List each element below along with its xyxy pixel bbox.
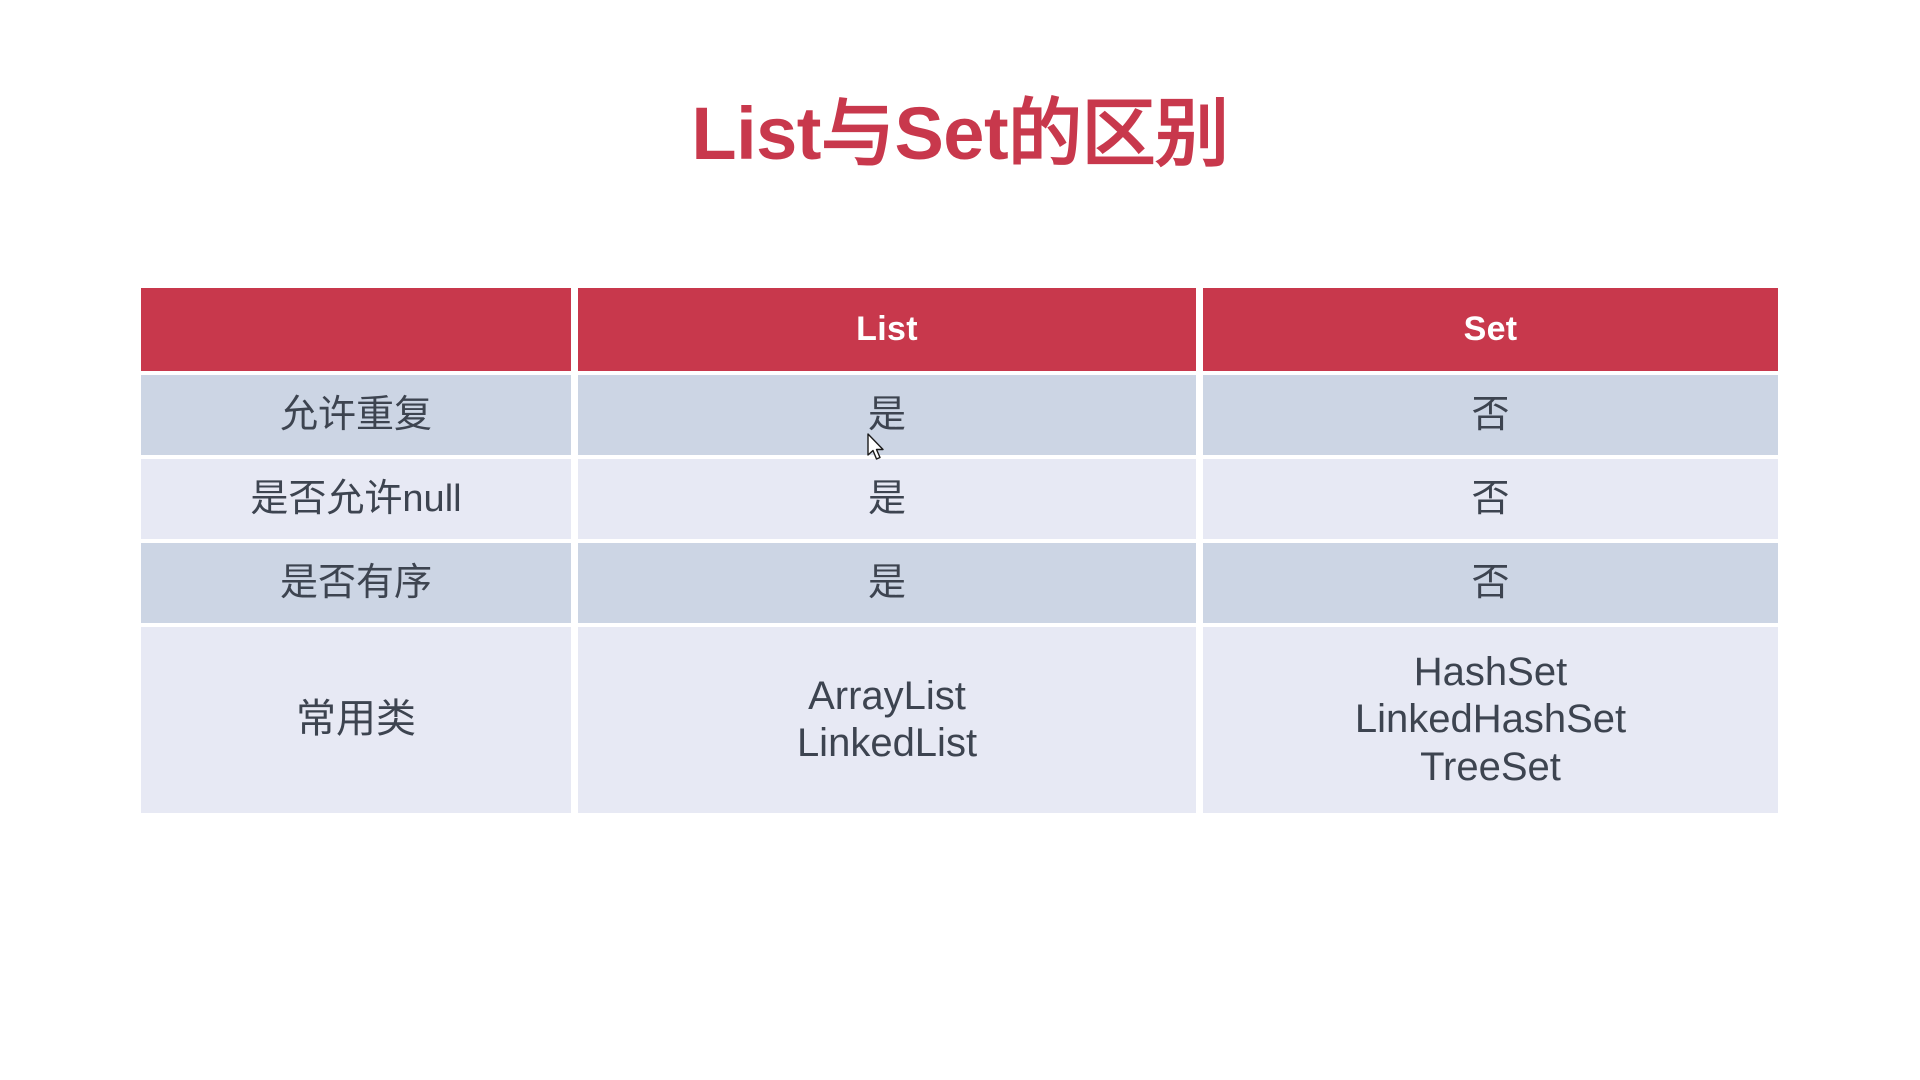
set-value: 否 [1203, 459, 1778, 539]
table-row: 允许重复 是 否 [141, 375, 1778, 455]
comparison-table: List Set 允许重复 是 [134, 284, 1785, 817]
value-line: 是 [868, 391, 906, 440]
table-cell-list: 是 [578, 459, 1196, 539]
page-title: List与Set的区别 [0, 95, 1920, 173]
attribute-label: 是否允许null [141, 459, 571, 539]
table-cell-list: 是 [578, 375, 1196, 455]
table-row: 是否允许null 是 否 [141, 459, 1778, 539]
value-line: 否 [1471, 559, 1509, 608]
list-value: 是 [578, 375, 1196, 455]
table-cell-list: 是 [578, 543, 1196, 623]
table-header-cell-attribute [141, 288, 571, 371]
attribute-label: 允许重复 [141, 375, 571, 455]
table-header-cell-list: List [578, 288, 1196, 371]
table-row: 常用类 ArrayList LinkedList HashSet LinkedH… [141, 627, 1778, 813]
table-header-label-attribute [141, 288, 571, 371]
comparison-table-wrapper: List Set 允许重复 是 [141, 288, 1778, 813]
table-header-row: List Set [141, 288, 1778, 371]
value-line: 是 [868, 475, 906, 524]
value-line: LinkedHashSet [1355, 696, 1626, 743]
list-value: 是 [578, 459, 1196, 539]
table-header-cell-set: Set [1203, 288, 1778, 371]
set-value: 否 [1203, 375, 1778, 455]
set-value: 否 [1203, 543, 1778, 623]
table-cell-set: 否 [1203, 459, 1778, 539]
table-header-label-list: List [578, 288, 1196, 371]
list-value: ArrayList LinkedList [578, 627, 1196, 813]
table-cell-set: 否 [1203, 375, 1778, 455]
table-cell-list: ArrayList LinkedList [578, 627, 1196, 813]
value-line: HashSet [1414, 649, 1567, 696]
table-body: 允许重复 是 否 是否允许null [141, 375, 1778, 813]
attribute-label: 常用类 [141, 627, 571, 813]
set-value: HashSet LinkedHashSet TreeSet [1203, 627, 1778, 813]
table-header: List Set [141, 288, 1778, 371]
attribute-label: 是否有序 [141, 543, 571, 623]
list-value: 是 [578, 543, 1196, 623]
value-line: 是 [868, 559, 906, 608]
slide-canvas: List与Set的区别 List Set [0, 0, 1920, 1080]
table-cell-set: HashSet LinkedHashSet TreeSet [1203, 627, 1778, 813]
table-cell-attribute: 是否允许null [141, 459, 571, 539]
table-cell-attribute: 允许重复 [141, 375, 571, 455]
value-line: 否 [1471, 391, 1509, 440]
table-cell-attribute: 常用类 [141, 627, 571, 813]
value-line: 否 [1471, 475, 1509, 524]
table-cell-attribute: 是否有序 [141, 543, 571, 623]
value-line: ArrayList [808, 673, 966, 720]
table-cell-set: 否 [1203, 543, 1778, 623]
table-header-label-set: Set [1203, 288, 1778, 371]
value-line: TreeSet [1420, 744, 1561, 791]
value-line: LinkedList [797, 720, 977, 767]
table-row: 是否有序 是 否 [141, 543, 1778, 623]
slide-bottom-edge [0, 1076, 1920, 1080]
